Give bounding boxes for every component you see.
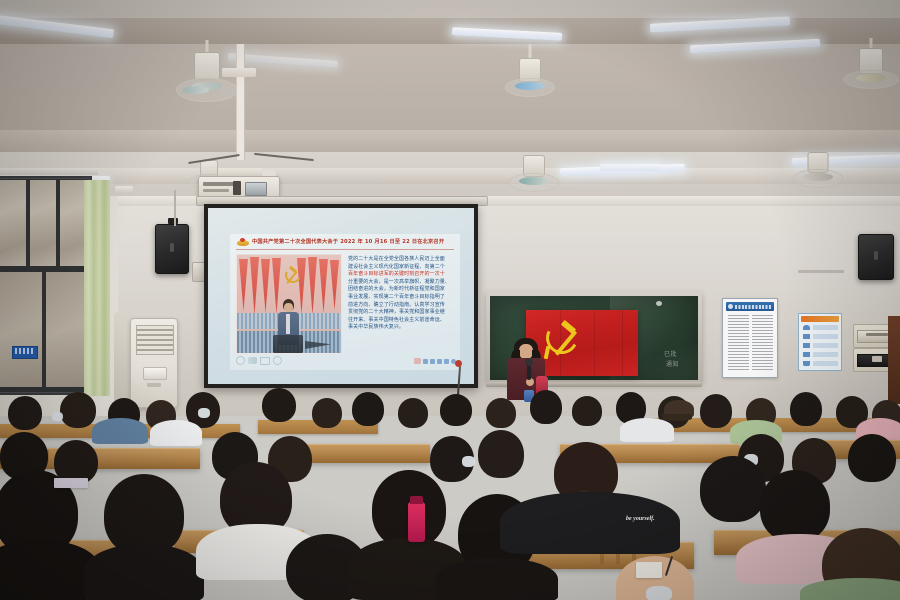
audience-head-a9 (398, 398, 428, 428)
slide-line-1: 党的二十大是在全党全国各族人民迈上全面 (348, 256, 456, 264)
slide-title-rule (236, 249, 454, 250)
audience-head-a16 (700, 394, 732, 428)
blackboard-chalk-note-1: 已批 (664, 352, 677, 359)
audience-head-b9 (848, 434, 896, 482)
blackboard-chalk-note-2: 通知 (666, 362, 679, 369)
face-mask-c1 (646, 586, 672, 600)
door-edge-right (888, 316, 900, 404)
notice-poster (722, 298, 778, 378)
flower-icon (236, 356, 245, 365)
audience-torso-a3 (620, 418, 674, 442)
audience-torso-a1 (92, 418, 148, 444)
projector-ceiling-plate (222, 68, 256, 77)
audience-head-c8 (700, 456, 766, 522)
audience-head-a1 (8, 396, 42, 430)
audience-torso-c7 (500, 492, 680, 554)
audience-head-a13 (572, 396, 602, 426)
face-mask-a1 (198, 408, 210, 418)
slide-photo (236, 254, 342, 354)
audience-torso-a2 (150, 420, 202, 446)
projection-screen[interactable]: 中国共产党第二十次全国代表大会于 2022 年 10 月16 日至 22 日在北… (208, 208, 474, 384)
speaker-bracket-left (168, 218, 178, 224)
audience-head-a10 (440, 394, 472, 426)
audience-torso-c2 (84, 544, 204, 600)
sparkle-icon (248, 357, 257, 364)
desk-paper (636, 562, 662, 578)
slide-tray-icons[interactable] (414, 358, 456, 364)
slide-line-3: 百年奋斗目标进军的关键时刻召开的一次十 (348, 271, 456, 279)
slide-line-10: 事关中华民族伟大复兴。 (348, 324, 456, 332)
wall-scuff (798, 270, 844, 273)
ceiling-fixture-a (115, 186, 133, 193)
face-mask-b2 (462, 456, 475, 467)
face-mask-a2 (52, 412, 63, 421)
audience-cap-brim (662, 414, 692, 421)
audience-head-a8 (352, 392, 384, 426)
ceiling-middle (0, 44, 900, 132)
audience-head-a7 (312, 398, 342, 428)
audience-head-a12 (530, 390, 562, 424)
slide-emblem-icon (236, 238, 250, 247)
wall-speaker-left (155, 224, 189, 274)
classroom-photo: 已批 通知 中国共产党第二十次全国代表大会于 2022 年 10 月16 日至 … (0, 0, 900, 600)
ceiling-fan-3 (840, 38, 900, 102)
ac-unit (130, 318, 178, 408)
ceiling-beam-middle (0, 130, 900, 154)
water-bottle-desk[interactable] (408, 502, 425, 542)
desk-notebook (54, 478, 88, 488)
chalk-mark (656, 301, 662, 306)
emergency-chart-poster (798, 313, 842, 371)
window-curtain-rail (0, 168, 98, 175)
window-left (0, 176, 92, 395)
ceiling-fixture-b (262, 170, 276, 176)
audience-head-b6 (478, 430, 524, 478)
tag-icon (260, 357, 270, 365)
slide-line-8: 贯彻党的二十大精神，事关党和国家事业继 (348, 309, 456, 317)
logo-icon (414, 358, 421, 364)
audience-head-a2 (60, 392, 96, 428)
ceiling-light-9 (600, 164, 660, 171)
conduit-left (174, 190, 176, 226)
grid-icon[interactable] (444, 359, 449, 364)
slide-line-5: 团结奋进的大会，为新时代新征程党和国家 (348, 286, 456, 294)
slide-decor-icons (236, 356, 282, 365)
audience-head-c9 (760, 470, 830, 542)
ceiling-fan-2 (500, 44, 560, 106)
wall-speaker-right (858, 234, 894, 280)
highlighter-icon[interactable] (437, 359, 442, 364)
projector-pole (236, 44, 245, 160)
shirt-text: be yourself. (626, 516, 655, 522)
audience-head-a18 (790, 392, 822, 426)
pointer-icon[interactable] (430, 359, 435, 364)
slide-body-text: 党的二十大是在全党全国各族人民迈上全面 建设社会主义现代化国家新征程、向第二个 … (348, 256, 456, 332)
water-bottle-cap[interactable] (410, 496, 423, 504)
slide-line-6: 事业发展、实现第二个百年奋斗目标指明了 (348, 294, 456, 302)
audience-torso-c6 (436, 558, 558, 600)
audience-head-a11 (486, 398, 516, 428)
ceiling-beam-lower (0, 168, 900, 184)
pen-icon[interactable] (423, 359, 428, 364)
audience-head-a6 (262, 388, 296, 422)
badge-icon (273, 356, 282, 365)
desk-row-mid-center (300, 444, 430, 463)
slide-title: 中国共产党第二十次全国代表大会于 2022 年 10 月16 日至 22 日在北… (252, 239, 444, 246)
pointer-tip (455, 360, 462, 367)
window-curtain (84, 180, 110, 396)
